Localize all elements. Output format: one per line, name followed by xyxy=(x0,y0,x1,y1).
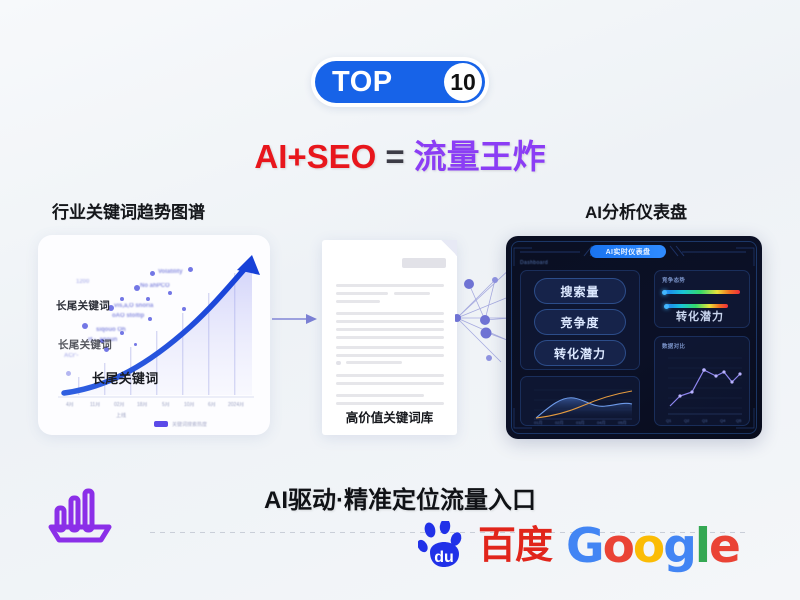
document-text-line xyxy=(336,320,444,323)
scatter-bubble xyxy=(182,307,186,311)
google-letter-o1: o xyxy=(603,519,633,574)
main-headline: AI+SEO=流量王炸 xyxy=(0,130,800,178)
line-chart-svg xyxy=(654,348,750,428)
flow-arrow-icon xyxy=(272,312,318,331)
line-chart-tick: Q4 xyxy=(720,418,725,423)
gauge-bar-marker xyxy=(662,290,667,295)
document-caption: 高价值关键词库 xyxy=(322,407,457,426)
line-chart-tick: Q2 xyxy=(684,418,689,423)
google-letter-e: e xyxy=(709,519,739,574)
left-section-caption: 行业关键词趋势图谱 xyxy=(52,198,205,223)
chart-noise-text: Volatility xyxy=(158,269,183,275)
dashboard-title-badge: AI实时仪表盘 xyxy=(590,245,666,258)
axis-note: 上线 xyxy=(116,412,126,419)
scatter-bubble xyxy=(148,317,152,321)
area-chart-tick: 02月 xyxy=(555,420,563,426)
line-chart-tick: Q1 xyxy=(666,418,671,423)
metric-pill-competition[interactable]: 竞争度 xyxy=(534,309,626,335)
chart-noise-text: vis,a,O snoria xyxy=(114,303,153,309)
baidu-logo: du 百度 xyxy=(418,521,552,571)
baidu-paw-icon: du xyxy=(418,521,476,571)
scatter-bubble xyxy=(66,371,71,376)
right-section-caption: AI分析仪表盘 xyxy=(585,198,687,223)
area-chart-tick: 01月 xyxy=(534,420,542,426)
document-text-line xyxy=(336,354,444,357)
headline-left: AI+SEO xyxy=(254,138,376,175)
top-ten-badge: TOP 10 xyxy=(311,57,489,107)
legend-swatch xyxy=(154,421,168,427)
scatter-bubble xyxy=(82,323,88,329)
document-text-line xyxy=(336,402,444,405)
document-text-line xyxy=(336,346,444,349)
headline-equals: = xyxy=(385,138,404,175)
keyword-label: 长尾关键词 xyxy=(56,298,110,313)
google-letter-g: g xyxy=(663,519,695,574)
document-header-block xyxy=(402,258,446,268)
axis-tick: 02月 xyxy=(114,401,125,408)
google-logo: Google xyxy=(566,523,739,570)
chart-noise-text: ACr'- xyxy=(64,353,78,359)
area-chart-tick: 03月 xyxy=(576,420,584,426)
ai-dashboard-panel: AI实时仪表盘 Dashboard 搜索量 竞争度 转化潜力 竞争态势 转化潜力 xyxy=(506,236,762,439)
line-chart-tick: Q3 xyxy=(702,418,707,423)
line-chart-tick: Q5 xyxy=(736,418,741,423)
document-text-line xyxy=(336,374,444,377)
gauge-bar xyxy=(664,290,740,294)
chart-noise-text: siqouo Oh xyxy=(96,327,126,333)
top-badge-number-circle: 10 xyxy=(444,63,482,101)
axis-tick: 5月 xyxy=(162,401,170,408)
chart-noise-text: oAO stoltip xyxy=(112,313,144,319)
scatter-bubble xyxy=(168,291,172,295)
metric-pill-search-volume[interactable]: 搜索量 xyxy=(534,278,626,304)
keyword-library-document: 高价值关键词库 xyxy=(322,240,457,435)
axis-tick: 11月 xyxy=(90,401,100,408)
document-text-line xyxy=(336,300,380,303)
google-letter-l: l xyxy=(695,519,709,574)
document-text-line xyxy=(336,382,444,385)
scatter-bubble xyxy=(150,271,155,276)
chart-noise-text: 1200 xyxy=(76,279,89,285)
top-badge-pill: TOP 10 xyxy=(315,61,485,103)
axis-tick: 6月 xyxy=(208,401,216,408)
chart-plot-area: Volatility No ahPCO vis,a,O snoria oAO s… xyxy=(38,235,270,435)
baidu-wordmark: 百度 xyxy=(478,527,552,565)
area-chart-svg xyxy=(520,376,640,426)
google-letter-o2: o xyxy=(633,519,663,574)
axis-tick: 10月 xyxy=(184,401,195,408)
area-chart-tick: 04月 xyxy=(597,420,605,426)
bar-chart-pedestal-icon xyxy=(45,482,115,553)
area-chart-tick: 05月 xyxy=(618,420,626,426)
legend-label: 关键词搜索热度 xyxy=(172,421,207,428)
document-bullet xyxy=(336,361,341,365)
gauge-panel-title: 竞争态势 xyxy=(662,276,685,284)
chart-noise-text: No ahPCO xyxy=(140,283,170,289)
scatter-bubble xyxy=(120,297,124,301)
dashboard-logo-label: Dashboard xyxy=(520,260,548,266)
keyword-label: 长尾关键词 xyxy=(92,368,159,387)
document-text-line xyxy=(336,328,444,331)
axis-tick: 18月 xyxy=(137,401,148,408)
gauge-bar-marker xyxy=(664,304,669,309)
footer-headline: AI驱动·精准定位流量入口 xyxy=(0,480,800,515)
keyword-trend-chart-card: Volatility No ahPCO vis,a,O snoria oAO s… xyxy=(38,235,270,435)
document-text-line xyxy=(394,292,430,295)
scatter-bubble xyxy=(134,343,137,346)
document-text-line xyxy=(346,361,402,364)
document-text-line xyxy=(336,284,444,287)
keyword-label: 长尾关键词 xyxy=(58,337,112,352)
document-text-line xyxy=(336,336,444,339)
axis-tick: 4月 xyxy=(66,401,74,408)
baidu-du-text: du xyxy=(434,549,454,566)
gauge-overlay-text: 转化潜力 xyxy=(676,308,724,324)
document-text-line xyxy=(336,394,424,397)
axis-tick: 2024月 xyxy=(228,401,244,408)
top-badge-label: TOP xyxy=(332,68,393,97)
google-letter-G: G xyxy=(566,519,603,574)
metric-pill-conversion[interactable]: 转化潜力 xyxy=(534,340,626,366)
search-engine-logos: du 百度 Google xyxy=(418,521,739,571)
top-badge-number: 10 xyxy=(450,71,476,94)
document-text-line xyxy=(336,292,388,295)
headline-right: 流量王炸 xyxy=(414,138,546,175)
document-folded-corner xyxy=(441,240,457,256)
document-text-line xyxy=(336,312,444,315)
scatter-bubble xyxy=(188,267,193,272)
slide-canvas: TOP 10 AI+SEO=流量王炸 行业关键词趋势图谱 AI分析仪表盘 xyxy=(0,0,800,600)
scatter-bubble xyxy=(146,297,150,301)
